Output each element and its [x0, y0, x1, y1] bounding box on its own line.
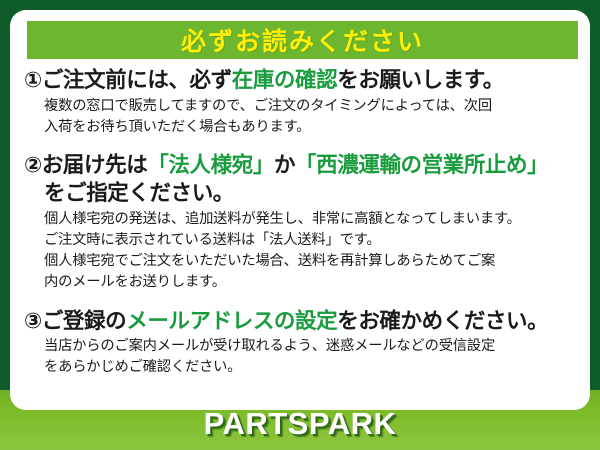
notice-item-2-heading-part-1: お届け先は	[42, 153, 148, 177]
notice-item-3-number: ③	[24, 309, 42, 333]
notice-item-1-number: ①	[24, 68, 42, 92]
notice-item-2-heading-highlight-1: 「法人様宛」	[147, 153, 274, 177]
notice-item-1-heading-part-1: ご注文前には、必ず	[42, 68, 232, 92]
notice-item-2-subline-1: 個人様宅宛の発送は、追加送料が発生し、非常に高額となってしまいます。	[44, 209, 580, 230]
notice-item-1-heading: ①ご注文前には、必ず在庫の確認をお願いします。	[24, 66, 580, 95]
notice-item-3-heading-part-3: をお確かめください。	[337, 309, 548, 333]
notice-banner: 必ずお読みください ①ご注文前には、必ず在庫の確認をお願いします。 複数の窓口で…	[0, 0, 600, 450]
notice-item-2: ②お届け先は「法人様宛」か「西濃運輸の営業所止め」をご指定ください。 個人様宅宛…	[24, 151, 580, 293]
notice-item-3-subtext: 当店からのご案内メールが受け取れるよう、迷惑メールなどの受信設定 をあらかじめご…	[44, 336, 580, 378]
notice-panel: 必ずお読みください ①ご注文前には、必ず在庫の確認をお願いします。 複数の窓口で…	[10, 10, 590, 410]
notice-item-1: ①ご注文前には、必ず在庫の確認をお願いします。 複数の窓口で販売してますので、ご…	[24, 66, 580, 138]
notice-item-3-subline-2: をあらかじめご確認ください。	[44, 357, 580, 378]
brand-wordmark: PARTSPARK	[0, 406, 600, 442]
notice-item-3-subline-1: 当店からのご案内メールが受け取れるよう、迷惑メールなどの受信設定	[44, 336, 580, 357]
notice-title-bar: 必ずお読みください	[27, 21, 578, 59]
notice-item-2-heading-line2: をご指定ください。	[44, 179, 580, 208]
notice-item-2-subline-3: 個人様宅宛でご注文をいただいた場合、送料を再計算しあらためてご案	[44, 251, 580, 272]
notice-item-2-number: ②	[24, 153, 42, 177]
notice-item-1-subline-2: 入荷をお待ち頂いただく場合もあります。	[44, 117, 580, 138]
notice-item-2-heading-highlight-2: 「西濃運輸の営業所止め」	[295, 153, 548, 177]
page-title: 必ずお読みください	[181, 22, 424, 58]
notice-item-3-heading-highlight: メールアドレスの設定	[126, 309, 337, 333]
notice-item-2-subtext: 個人様宅宛の発送は、追加送料が発生し、非常に高額となってしまいます。 ご注文時に…	[44, 209, 580, 293]
notice-item-3-heading: ③ご登録のメールアドレスの設定をお確かめください。	[24, 307, 580, 336]
notice-item-1-heading-part-3: をお願いします。	[337, 68, 504, 92]
notice-item-1-subtext: 複数の窓口で販売してますので、ご注文のタイミングによっては、次回 入荷をお待ち頂…	[44, 96, 580, 138]
notice-item-3-heading-part-1: ご登録の	[42, 309, 126, 333]
notice-item-3: ③ご登録のメールアドレスの設定をお確かめください。 当店からのご案内メールが受け…	[24, 307, 580, 379]
notice-body: ①ご注文前には、必ず在庫の確認をお願いします。 複数の窓口で販売してますので、ご…	[10, 65, 590, 382]
notice-item-1-subline-1: 複数の窓口で販売してますので、ご注文のタイミングによっては、次回	[44, 96, 580, 117]
notice-item-1-heading-highlight: 在庫の確認	[232, 68, 338, 92]
notice-item-2-subline-2: ご注文時に表示されている送料は「法人送料」です。	[44, 230, 580, 251]
notice-item-2-subline-4: 内のメールをお送りします。	[44, 272, 580, 293]
notice-item-2-heading: ②お届け先は「法人様宛」か「西濃運輸の営業所止め」をご指定ください。	[24, 151, 580, 208]
notice-item-2-heading-part-3: か	[274, 153, 295, 177]
